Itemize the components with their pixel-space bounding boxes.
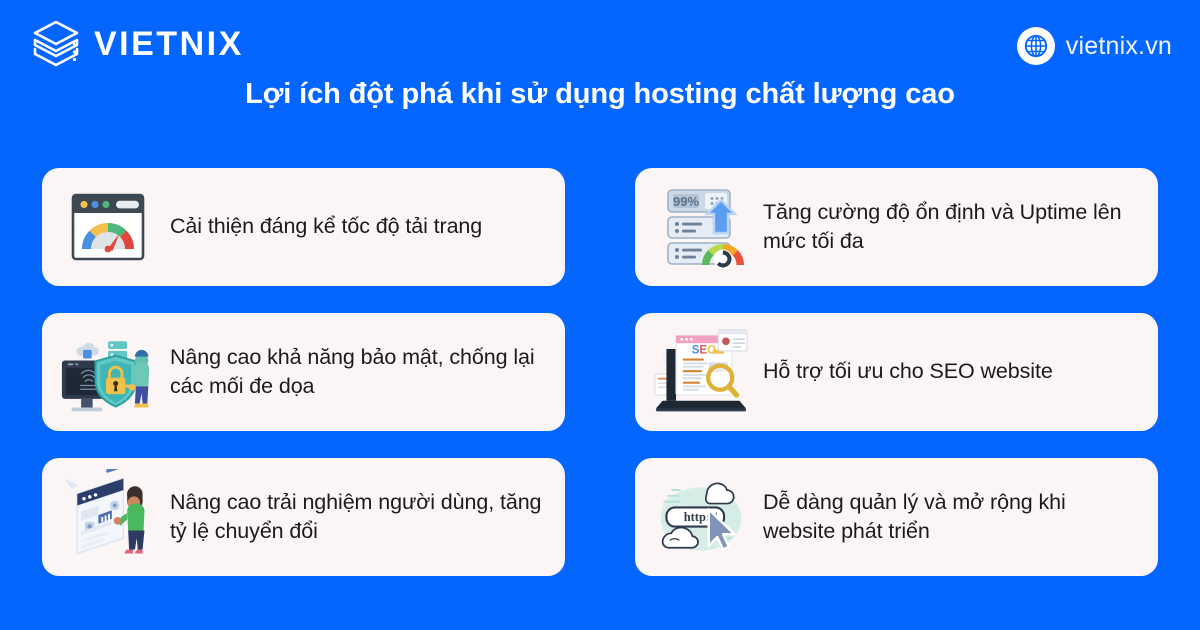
shield-lock-security-icon	[60, 324, 156, 420]
browser-speedometer-icon	[60, 179, 156, 275]
benefit-label: Hỗ trợ tối ưu cho SEO website	[763, 357, 1053, 386]
benefit-label: Dễ dàng quản lý và mở rộng khi website p…	[763, 488, 1138, 546]
user-experience-dashboard-icon	[60, 469, 156, 565]
benefit-label: Nâng cao khả năng bảo mật, chống lại các…	[170, 343, 545, 401]
server-uptime-arrow-icon: 99%	[653, 179, 749, 275]
benefit-card-page-speed[interactable]: Cải thiện đáng kể tốc độ tải trang	[42, 168, 565, 286]
page-header: VIETNIX vietnix.vn	[0, 0, 1200, 78]
cloud-http-cursor-icon: http://	[653, 469, 749, 565]
benefit-card-security[interactable]: Nâng cao khả năng bảo mật, chống lại các…	[42, 313, 565, 431]
benefit-label: Tăng cường độ ổn định và Uptime lên mức …	[763, 198, 1138, 256]
benefits-grid: Cải thiện đáng kể tốc độ tải trang 99%	[42, 168, 1158, 576]
stacked-layers-logo-icon	[30, 18, 82, 70]
globe-icon	[1017, 27, 1055, 65]
brand-name: VIETNIX	[94, 27, 244, 61]
website-url-text: vietnix.vn	[1066, 32, 1172, 61]
benefit-card-seo[interactable]: SEO	[635, 313, 1158, 431]
brand-logo: VIETNIX	[30, 18, 244, 70]
laptop-seo-magnifier-icon: SEO	[653, 324, 749, 420]
page-title: Lợi ích đột phá khi sử dụng hosting chất…	[0, 78, 1200, 111]
website-link[interactable]: vietnix.vn	[1017, 27, 1172, 65]
benefit-label: Nâng cao trải nghiệm người dùng, tăng tỷ…	[170, 488, 545, 546]
benefit-card-scalability[interactable]: http:// Dễ dàng quản lý và mở rộng khi w…	[635, 458, 1158, 576]
benefit-label: Cải thiện đáng kể tốc độ tải trang	[170, 212, 482, 241]
seo-text: SEO	[692, 345, 716, 357]
uptime-percent-text: 99%	[673, 194, 699, 209]
benefit-card-uptime[interactable]: 99%	[635, 168, 1158, 286]
benefit-card-user-experience[interactable]: Nâng cao trải nghiệm người dùng, tăng tỷ…	[42, 458, 565, 576]
